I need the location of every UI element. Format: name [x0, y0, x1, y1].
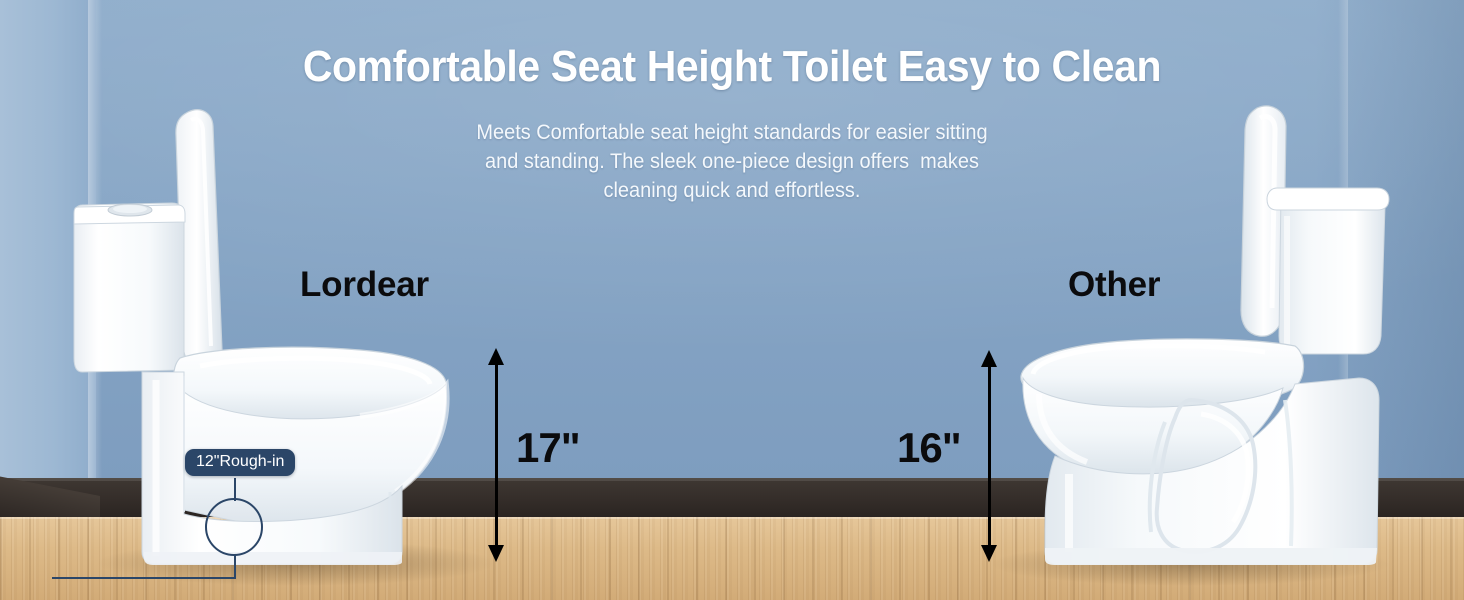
- subtitle-line-3: cleaning quick and effortless.: [400, 176, 1065, 205]
- dimension-arrow-other: [981, 350, 998, 562]
- seat-height-label-other: 16": [897, 424, 961, 472]
- dimension-arrow-lordear: [488, 348, 505, 562]
- infographic-scene: Comfortable Seat Height Toilet Easy to C…: [0, 0, 1464, 600]
- subtitle-line-1: Meets Comfortable seat height standards …: [400, 118, 1065, 147]
- page-title: Comfortable Seat Height Toilet Easy to C…: [51, 42, 1413, 92]
- arrowhead-down-icon: [488, 545, 504, 562]
- rough-in-outlet-circle: [205, 498, 263, 556]
- rough-in-badge: 12"Rough-in: [185, 449, 295, 476]
- subtitle-line-2: and standing. The sleek one-piece design…: [400, 147, 1065, 176]
- rough-in-leader-horizontal: [52, 577, 236, 579]
- arrowhead-down-icon: [981, 545, 997, 562]
- toilet-lordear: [60, 100, 480, 570]
- toilet-other: [995, 100, 1415, 570]
- rough-in-leader-stem: [234, 478, 236, 501]
- page-subtitle: Meets Comfortable seat height standards …: [400, 118, 1065, 205]
- arrow-stem: [988, 364, 991, 548]
- seat-height-label-lordear: 17": [516, 424, 580, 472]
- rough-in-leader-drop: [234, 554, 236, 578]
- arrow-stem: [495, 362, 498, 548]
